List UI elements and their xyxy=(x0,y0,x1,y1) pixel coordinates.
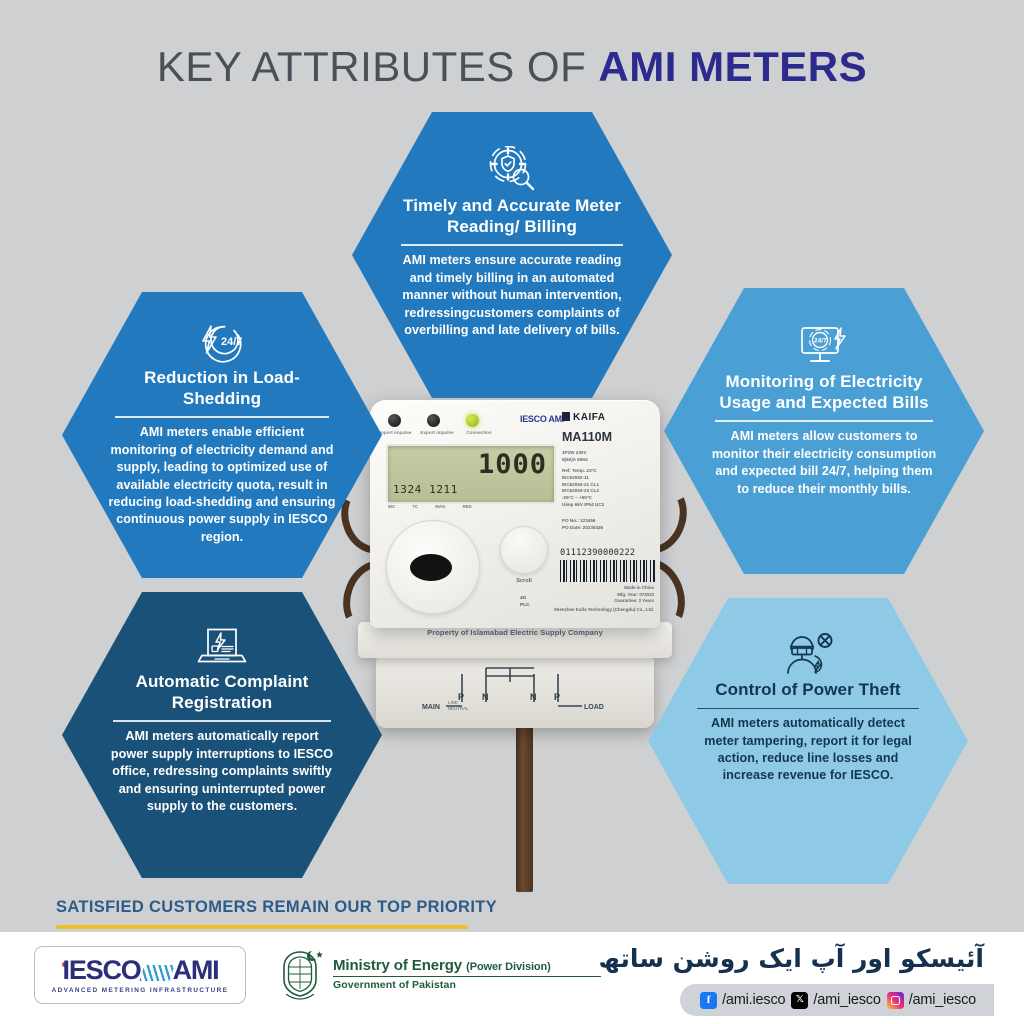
x-twitter-icon: 𝕏 xyxy=(791,992,808,1009)
hexagon-divider xyxy=(697,708,919,710)
iesco-logo-swoosh xyxy=(139,965,174,981)
svg-text:LINE: LINE xyxy=(448,700,458,705)
ministry-name: Ministry of Energy xyxy=(333,957,462,974)
instagram-handle: /ami_iesco xyxy=(909,992,976,1008)
svg-text:P: P xyxy=(458,692,464,702)
meter-optical-port-dial xyxy=(386,520,480,614)
social-facebook[interactable]: f /ami.iesco xyxy=(700,992,785,1009)
status-mark-tc: TC xyxy=(412,504,418,509)
page-title-accent: AMI METERS xyxy=(598,43,867,90)
meter-led-labels: Import impulse Export impulse Connection xyxy=(378,430,496,435)
meter-po-number: PO No.: 123456 xyxy=(562,518,656,525)
svg-text:NEUTRAL: NEUTRAL xyxy=(448,706,469,711)
magnifier-shield-target-icon xyxy=(487,146,537,192)
ministry-text-block: Ministry of Energy (Power Division) Gove… xyxy=(333,957,601,992)
meter-scroll-button[interactable] xyxy=(500,526,548,574)
terminal-wiring-diagram: PN NP MAIN LOAD LINENEUTRAL xyxy=(376,656,654,728)
meter-barcode xyxy=(560,560,656,582)
lcd-secondary-reading: 1324 1211 xyxy=(393,483,458,496)
iesco-ami-logo[interactable]: IESCOAMI ADVANCED METERING INFRASTRUCTUR… xyxy=(34,946,246,1004)
hexagon-title: Monitoring of Electricity Usage and Expe… xyxy=(708,372,940,413)
hexagon-body: AMI meters enable efficient monitoring o… xyxy=(106,424,338,546)
page-title-plain: KEY ATTRIBUTES OF xyxy=(157,43,599,90)
status-mark-red: RED xyxy=(462,504,471,509)
connection-led xyxy=(466,414,479,427)
terminal-label-main: MAIN xyxy=(422,704,440,711)
hexagon-title: Automatic Complaint Registration xyxy=(106,672,338,713)
meter-po-date: PO Date: 20230426 xyxy=(562,525,656,532)
x-twitter-handle: /ami_iesco xyxy=(813,992,880,1008)
comm-label-4g: 4G xyxy=(520,595,530,603)
hexagon-divider xyxy=(113,720,331,722)
meter-lcd-display: 1000 1324 1211 xyxy=(386,444,556,504)
terminal-label-load: LOAD xyxy=(584,704,604,711)
laptop-bolt-icon xyxy=(197,624,247,668)
iesco-logo-ami-text: AMI xyxy=(173,955,219,985)
hexagon-title: Control of Power Theft xyxy=(715,680,900,701)
meter-led-row xyxy=(388,414,479,427)
social-instagram[interactable]: /ami_iesco xyxy=(887,992,976,1009)
ministry-government-line: Government of Pakistan xyxy=(333,979,601,991)
social-x-twitter[interactable]: 𝕏 /ami_iesco xyxy=(791,992,880,1009)
monitor-24-7-bolt-icon: 24/7 xyxy=(797,322,851,368)
import-impulse-led xyxy=(388,414,401,427)
ministry-division: (Power Division) xyxy=(466,961,551,973)
led-label-import: Import impulse xyxy=(378,430,412,435)
facebook-handle: /ami.iesco xyxy=(722,992,785,1008)
led-label-export: Export impulse xyxy=(420,430,454,435)
hexagon-monitoring-of-electricity-usage[interactable]: 24/7 Monitoring of Electricity Usage and… xyxy=(664,288,984,574)
meter-comm-labels: 4G PLC xyxy=(520,595,530,610)
facebook-icon: f xyxy=(700,992,717,1009)
hexagon-divider xyxy=(401,244,623,246)
meter-terminal-block: PN NP MAIN LOAD LINENEUTRAL xyxy=(376,656,654,728)
hexagon-body: AMI meters allow customers to monitor th… xyxy=(708,428,940,498)
hexagon-title: Timely and Accurate Meter Reading/ Billi… xyxy=(398,196,626,237)
iesco-logo-subtitle: ADVANCED METERING INFRASTRUCTURE xyxy=(52,987,229,994)
scroll-button-label: Scroll xyxy=(500,578,548,584)
svg-text:N: N xyxy=(482,692,489,702)
svg-text:N: N xyxy=(530,692,537,702)
hexagon-body: AMI meters automatically detect meter ta… xyxy=(692,715,924,785)
hexagon-body: AMI meters automatically report power su… xyxy=(106,728,338,815)
meter-serial-number: 01112390000222 xyxy=(560,548,635,558)
hexagon-body: AMI meters ensure accurate reading and t… xyxy=(398,252,626,339)
svg-text:P: P xyxy=(554,692,560,702)
meter-model-number: MA110M xyxy=(562,430,656,444)
page-title: KEY ATTRIBUTES OF AMI METERS xyxy=(0,44,1024,90)
pakistan-state-emblem-icon xyxy=(276,948,324,1000)
optical-port-hole xyxy=(410,554,452,581)
iesco-logo-wordmark: IESCOAMI xyxy=(62,957,219,984)
svg-text:24/7: 24/7 xyxy=(814,338,827,345)
svg-text:24/7: 24/7 xyxy=(221,336,242,348)
comm-label-plc: PLC xyxy=(520,602,530,610)
hexagon-divider xyxy=(715,420,933,422)
iesco-logo-text: IESCO xyxy=(63,955,141,985)
meter-spec-label: KAIFA MA110M 1P2W 230V 5(60)A 50Hz Ref. … xyxy=(562,412,656,532)
led-label-connection: Connection xyxy=(462,430,496,435)
ami-meter-illustration: PN NP MAIN LOAD LINENEUTRAL Property of … xyxy=(330,392,700,892)
instagram-icon xyxy=(887,992,904,1009)
ministry-underline xyxy=(333,976,601,978)
meter-manufacturer: Shenzhen Kaifa Technology (Chengdu) Co.,… xyxy=(534,607,654,614)
meter-iesco-ami-text: IESCO AMI xyxy=(520,414,564,424)
hexagon-divider xyxy=(115,416,329,418)
thief-blocked-icon xyxy=(782,632,834,676)
meter-brand-kaifa: KAIFA xyxy=(562,412,656,423)
meter-iesco-ami-badge: IESCO AMI xyxy=(520,414,564,424)
social-media-bar: f /ami.iesco 𝕏 /ami_iesco /ami_iesco xyxy=(680,984,994,1016)
meter-property-text: Property of Islamabad Electric Supply Co… xyxy=(358,628,672,637)
meter-status-marks: WC TC MAG RED xyxy=(388,504,472,509)
meter-origin-info: Made in China Mfg. Year: 072023 Guarante… xyxy=(534,585,654,614)
footer-tagline-underline xyxy=(56,925,468,929)
meter-spec-lines: 1P2W 230V 5(60)A 50Hz Ref. Temp. 23°C IE… xyxy=(562,450,656,509)
status-mark-mag: MAG xyxy=(435,504,445,509)
24-7-bolt-icon: 24/7 xyxy=(195,322,249,364)
status-mark-wc: WC xyxy=(388,504,395,509)
hexagon-title: Reduction in Load- Shedding xyxy=(106,368,338,409)
hexagon-timely-accurate-meter-reading[interactable]: Timely and Accurate Meter Reading/ Billi… xyxy=(352,112,672,398)
meter-po-info: PO No.: 123456 PO Date: 20230426 xyxy=(562,518,656,532)
infographic-canvas: KEY ATTRIBUTES OF AMI METERS PN NP xyxy=(0,0,1024,1024)
urdu-slogan: آئیسکو اور آپ ایک روشن ساتھ xyxy=(599,944,984,973)
export-impulse-led xyxy=(427,414,440,427)
footer-tagline: SATISFIED CUSTOMERS REMAIN OUR TOP PRIOR… xyxy=(56,898,497,917)
ministry-name-line: Ministry of Energy (Power Division) xyxy=(333,957,601,974)
ministry-of-energy-logo[interactable]: Ministry of Energy (Power Division) Gove… xyxy=(276,948,601,1000)
meter-front-panel: Import impulse Export impulse Connection… xyxy=(370,400,660,628)
lcd-primary-reading: 1000 xyxy=(478,451,547,478)
